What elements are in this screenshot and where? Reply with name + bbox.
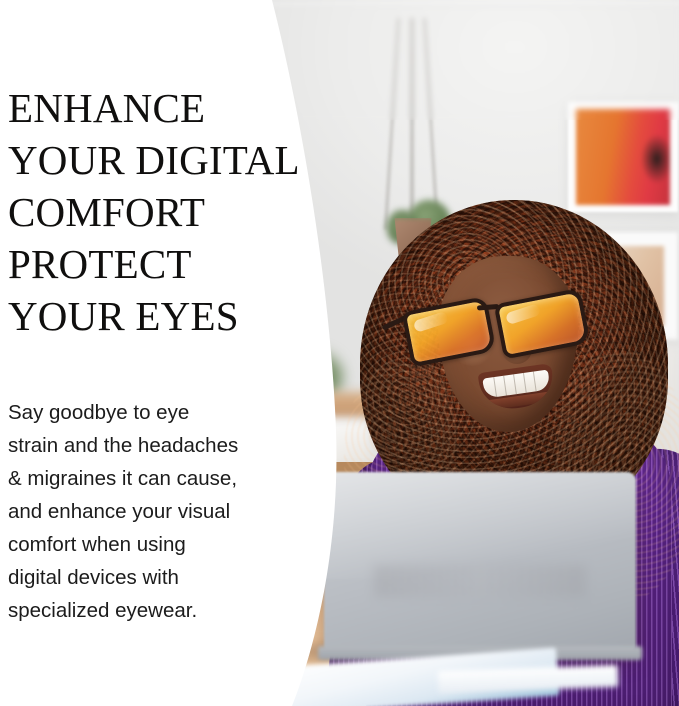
tooth-gap — [503, 376, 507, 396]
framed-art-orange-red — [568, 102, 678, 212]
laptop-reflection — [374, 565, 586, 597]
headline: ENHANCE YOUR DIGITAL COMFORT PROTECT YOU… — [8, 82, 300, 342]
lens-glare — [413, 311, 449, 333]
body-copy: Say goodbye to eye strain and the headac… — [8, 396, 293, 627]
laptop-sheen — [324, 472, 636, 579]
promo-poster: ENHANCE YOUR DIGITAL COMFORT PROTECT YOU… — [0, 0, 679, 706]
text-panel: ENHANCE YOUR DIGITAL COMFORT PROTECT YOU… — [0, 0, 300, 706]
smiling-mouth — [478, 363, 557, 413]
wall-seam — [268, 4, 679, 7]
abstract-artwork — [576, 109, 670, 205]
tooth-gap — [523, 373, 527, 393]
tooth-gap — [493, 377, 497, 397]
lens-glare — [505, 303, 541, 325]
tooth-gap — [513, 374, 517, 394]
plant-cord-left — [384, 18, 400, 230]
laptop — [324, 472, 636, 650]
tooth-gap — [533, 371, 537, 391]
plant-cord-right — [423, 18, 439, 230]
